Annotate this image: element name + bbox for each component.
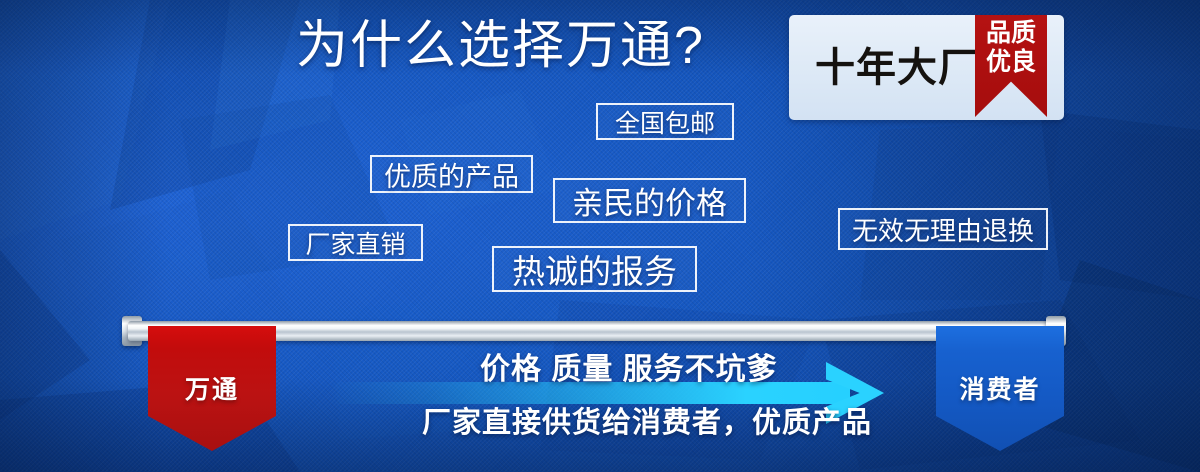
feature-tag-quality-product: 优质的产品 [370,155,533,193]
feature-tag-fair-price: 亲民的价格 [553,178,746,223]
badge-main-text: 十年大厂 [815,45,979,91]
feature-tag-factory-direct: 厂家直销 [288,224,423,261]
ribbon-line-2: 优良 [986,48,1036,77]
flag-target-label: 消费者 [959,370,1040,406]
ribbon-line-1: 品质 [986,19,1036,48]
promo-banner: 为什么选择万通? 十年大厂 品质 优良 全国包邮 优质的产品 亲民的价格 厂家直… [0,0,1200,472]
quality-ribbon: 品质 优良 [975,15,1047,117]
feature-tag-free-returns: 无效无理由退换 [838,208,1048,250]
flag-source-label: 万通 [185,370,239,406]
feature-tag-nationwide-shipping: 全国包邮 [596,103,734,140]
feature-tag-sincere-service: 热诚的报务 [492,246,697,292]
quality-badge: 十年大厂 品质 优良 [789,15,1064,120]
slogan-secondary: 厂家直接供货给消费者，优质产品 [422,405,872,441]
slogan-primary: 价格 质量 服务不坑爹 [480,352,778,388]
page-title: 为什么选择万通? [296,14,705,78]
